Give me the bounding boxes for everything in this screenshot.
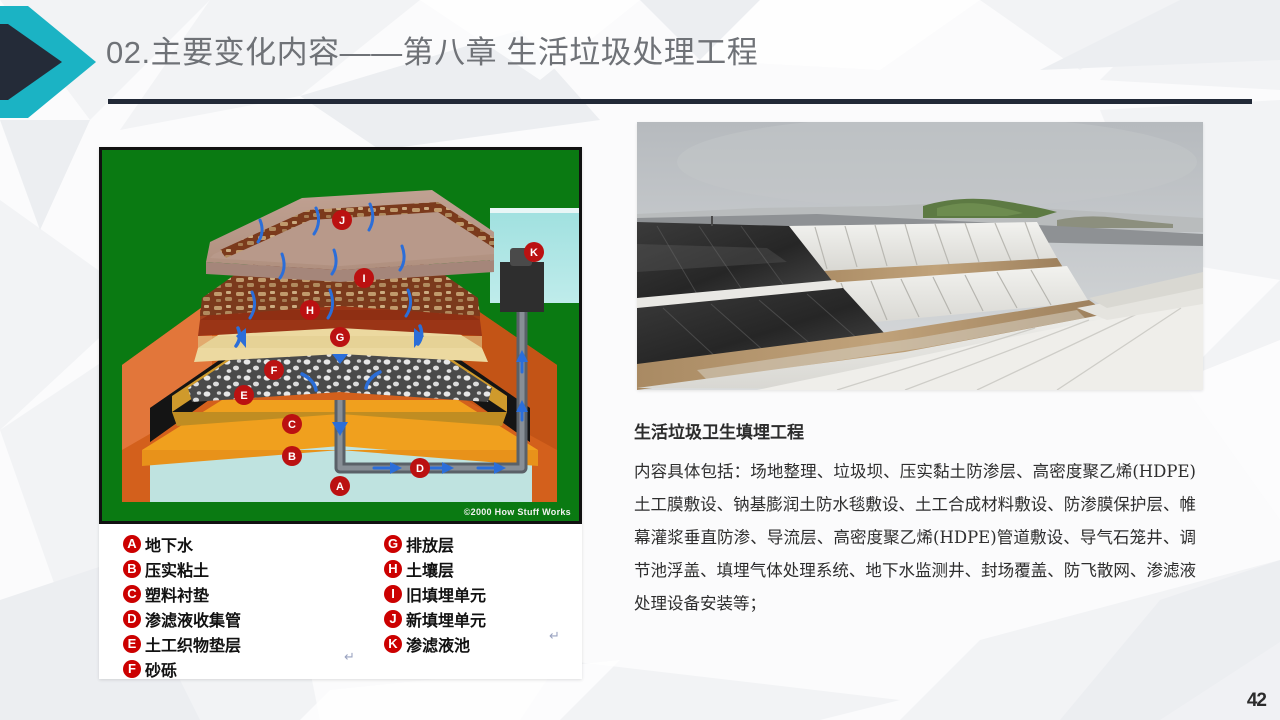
legend-label-d: 渗滤液收集管 <box>145 607 241 631</box>
legend-item: F 砂砾 <box>123 657 241 681</box>
svg-text:A: A <box>336 481 344 493</box>
svg-text:F: F <box>271 365 278 377</box>
legend-item: J 新填埋单元 <box>384 607 486 631</box>
paragraph-return-mark: ↵ <box>344 649 355 665</box>
legend-badge-d: D <box>123 610 141 628</box>
legend-item: A 地下水 <box>123 532 241 556</box>
legend-badge-j: J <box>384 610 402 628</box>
legend-item: E 土工织物垫层 <box>123 632 241 656</box>
svg-text:I: I <box>362 273 365 285</box>
content-heading: 生活垃圾卫生填埋工程 <box>634 418 1196 443</box>
title-underline-rule <box>108 99 1252 104</box>
legend-column-right: G 排放层 H 土壤层 I 旧填埋单元 J 新填埋单元 K 渗滤液池 <box>384 532 486 657</box>
legend-badge-c: C <box>123 585 141 603</box>
legend-column-left: A 地下水 B 压实粘土 C 塑料衬垫 D 渗滤液收集管 E 土工织物垫层 <box>123 532 241 682</box>
legend-label-f: 砂砾 <box>145 657 177 681</box>
legend-label-i: 旧填埋单元 <box>406 582 486 606</box>
slide-root: 02.主要变化内容——第八章 生活垃圾处理工程 <box>0 0 1280 720</box>
legend-badge-b: B <box>123 560 141 578</box>
svg-text:E: E <box>240 390 247 402</box>
legend-badge-a: A <box>123 535 141 553</box>
header-chevron-decoration <box>0 0 110 125</box>
legend-item: B 压实粘土 <box>123 557 241 581</box>
legend-item: G 排放层 <box>384 532 486 556</box>
legend-badge-k: K <box>384 635 402 653</box>
legend-item: I 旧填埋单元 <box>384 582 486 606</box>
figure-legend: A 地下水 B 压实粘土 C 塑料衬垫 D 渗滤液收集管 E 土工织物垫层 <box>99 524 582 679</box>
content-paragraph: 内容具体包括：场地整理、垃圾坝、压实黏土防渗层、高密度聚乙烯(HDPE)土工膜敷… <box>634 455 1196 620</box>
page-number: 42 <box>1247 690 1266 712</box>
legend-item: K 渗滤液池 <box>384 632 486 656</box>
legend-badge-g: G <box>384 535 402 553</box>
landfill-figure-card: A B C D E F G H I J K ©2000 How Stuff Wo… <box>99 147 582 679</box>
svg-text:D: D <box>416 463 424 475</box>
legend-badge-f: F <box>123 660 141 678</box>
svg-text:K: K <box>530 247 538 259</box>
paragraph-return-mark: ↵ <box>549 628 560 644</box>
legend-item: C 塑料衬垫 <box>123 582 241 606</box>
legend-badge-e: E <box>123 635 141 653</box>
legend-label-j: 新填埋单元 <box>406 607 486 631</box>
svg-text:C: C <box>288 419 296 431</box>
legend-label-b: 压实粘土 <box>145 557 209 581</box>
legend-label-k: 渗滤液池 <box>406 632 470 656</box>
legend-label-a: 地下水 <box>145 532 193 556</box>
legend-label-c: 塑料衬垫 <box>145 582 209 606</box>
landfill-site-photo <box>637 122 1203 390</box>
legend-badge-h: H <box>384 560 402 578</box>
figure-credit: ©2000 How Stuff Works <box>464 507 571 517</box>
legend-item: D 渗滤液收集管 <box>123 607 241 631</box>
svg-text:H: H <box>306 305 314 317</box>
legend-badge-i: I <box>384 585 402 603</box>
legend-label-g: 排放层 <box>406 532 454 556</box>
legend-label-h: 土壤层 <box>406 557 454 581</box>
svg-text:B: B <box>288 451 296 463</box>
landfill-cross-section-diagram: A B C D E F G H I J K ©2000 How Stuff Wo… <box>99 147 582 524</box>
legend-item: H 土壤层 <box>384 557 486 581</box>
svg-text:G: G <box>336 332 345 344</box>
svg-text:J: J <box>339 215 345 227</box>
legend-label-e: 土工织物垫层 <box>145 632 241 656</box>
content-text-block: 生活垃圾卫生填埋工程 内容具体包括：场地整理、垃圾坝、压实黏土防渗层、高密度聚乙… <box>634 418 1196 620</box>
page-title: 02.主要变化内容——第八章 生活垃圾处理工程 <box>106 34 758 71</box>
